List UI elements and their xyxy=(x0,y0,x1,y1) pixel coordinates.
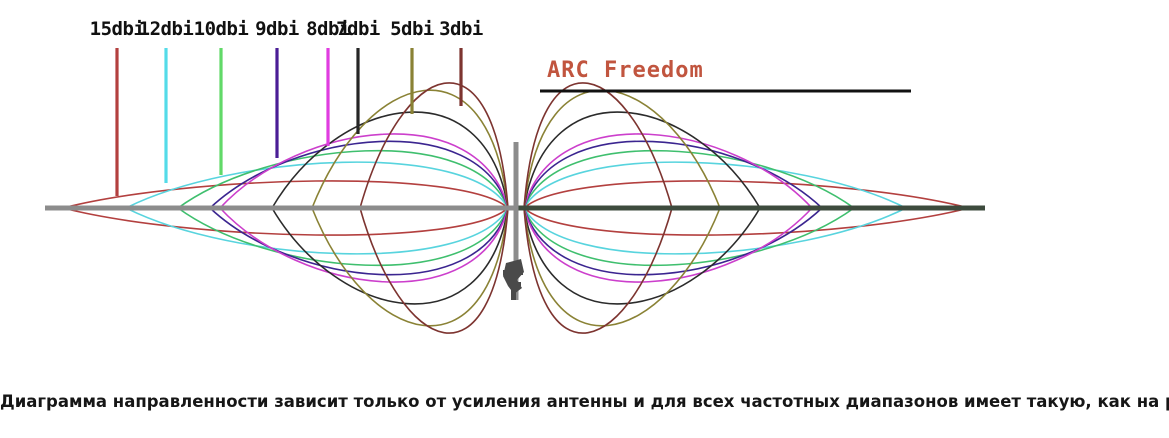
gain-label-5dbi: 5dbi xyxy=(390,18,434,40)
gain-label-10dbi: 10dbi xyxy=(194,18,249,40)
gain-label-7dbi: 7dbi xyxy=(336,18,380,40)
gain-label-3dbi: 3dbi xyxy=(439,18,483,40)
gain-label-15dbi: 15dbi xyxy=(90,18,145,40)
gain-label-9dbi: 9dbi xyxy=(255,18,299,40)
gain-leader-lines xyxy=(117,48,461,196)
figure-caption: Диаграмма направленности зависит только … xyxy=(0,392,1169,411)
brand-title: ARC Freedom xyxy=(547,58,704,83)
screenshot-root: 15dbi12dbi10dbi9dbi8dbi7dbi5dbi3dbi ARC … xyxy=(0,0,1169,438)
mast-bracket-icon xyxy=(503,259,524,300)
gain-label-12dbi: 12dbi xyxy=(139,18,194,40)
